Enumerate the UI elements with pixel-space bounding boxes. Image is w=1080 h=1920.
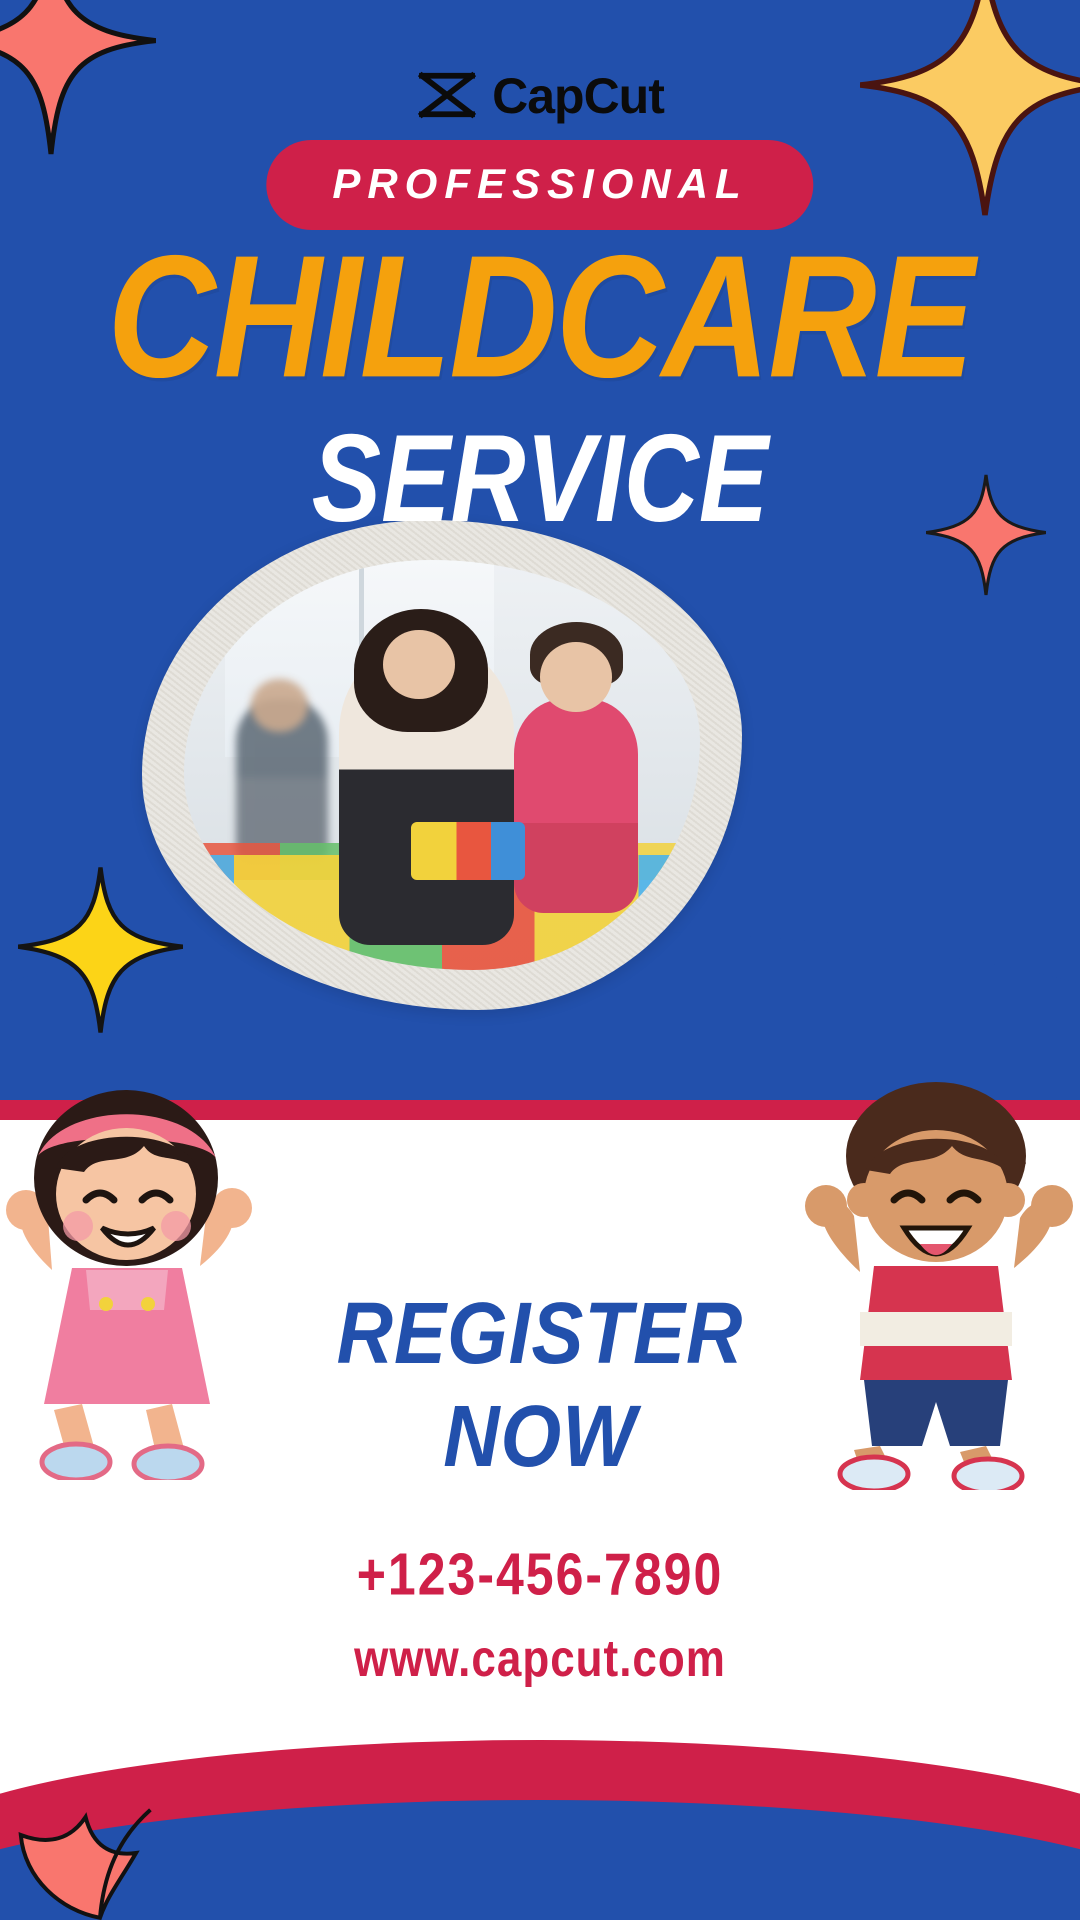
photo-background-child-head	[251, 679, 308, 732]
capcut-bowtie-icon	[416, 70, 478, 122]
contact-website[interactable]: www.capcut.com	[0, 1630, 1080, 1689]
logo-wordmark: CapCut	[492, 71, 664, 121]
poster-canvas: CapCut PROFESSIONAL CHILDCARE SERVICE	[0, 0, 1080, 1920]
photo-building-blocks	[411, 822, 525, 879]
headline-childcare: CHILDCARE	[0, 236, 1080, 396]
contact-phone[interactable]: +123-456-7890	[0, 1540, 1080, 1608]
photo-caregiver-face	[383, 630, 455, 700]
professional-badge: PROFESSIONAL	[266, 140, 813, 230]
photo-toddler-body	[514, 699, 638, 912]
jumping-girl-illustration	[0, 1060, 286, 1480]
photo-image	[184, 560, 700, 970]
jumping-boy-illustration	[790, 1050, 1080, 1490]
headline-block: CHILDCARE SERVICE	[0, 236, 1080, 519]
photo-toddler-face	[540, 642, 612, 712]
headline-service: SERVICE	[0, 420, 1080, 539]
contact-block: +123-456-7890 www.capcut.com	[0, 1540, 1080, 1680]
photo-blob	[142, 520, 742, 1010]
capcut-logo: CapCut	[0, 70, 1080, 122]
